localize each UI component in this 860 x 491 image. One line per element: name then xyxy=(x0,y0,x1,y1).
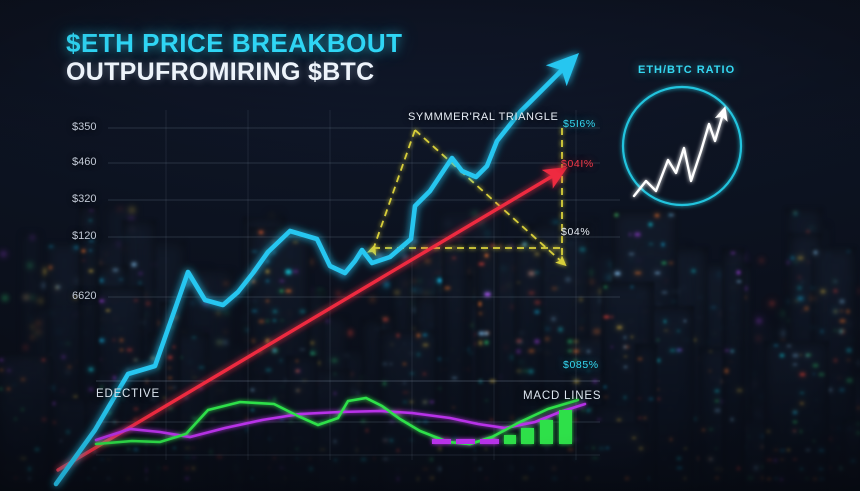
annotation-edective: EDECTIVE xyxy=(96,388,160,400)
y-axis-label-2: $320 xyxy=(72,193,96,205)
annotation-trend-percent: $04I% xyxy=(561,158,594,170)
y-axis-label-0: $350 xyxy=(72,121,96,133)
text-layer: $ETH PRICE BREAKBOUT OUTPUFROMIRING $BTC… xyxy=(0,0,860,491)
y-axis-label-4: 6620 xyxy=(72,290,96,302)
annotation-triangle: SYMMMER'RAL TRIANGLE xyxy=(408,111,558,123)
y-axis-label-3: $120 xyxy=(72,230,96,242)
headline-secondary: OUTPUFROMIRING $BTC xyxy=(66,58,374,87)
annotation-support-percent: $04% xyxy=(561,226,590,238)
headline-primary: $ETH PRICE BREAKBOUT xyxy=(66,28,402,59)
promo-graphic: $ETH PRICE BREAKBOUT OUTPUFROMIRING $BTC… xyxy=(0,0,860,491)
annotation-macd-lines: MACD LINES xyxy=(523,390,601,402)
eth-btc-ratio-label: ETH/BTC RATIO xyxy=(638,64,735,76)
annotation-macd-percent: $085% xyxy=(563,359,599,371)
y-axis-label-1: $460 xyxy=(72,156,96,168)
annotation-breakout-percent: $5I6% xyxy=(563,118,596,130)
